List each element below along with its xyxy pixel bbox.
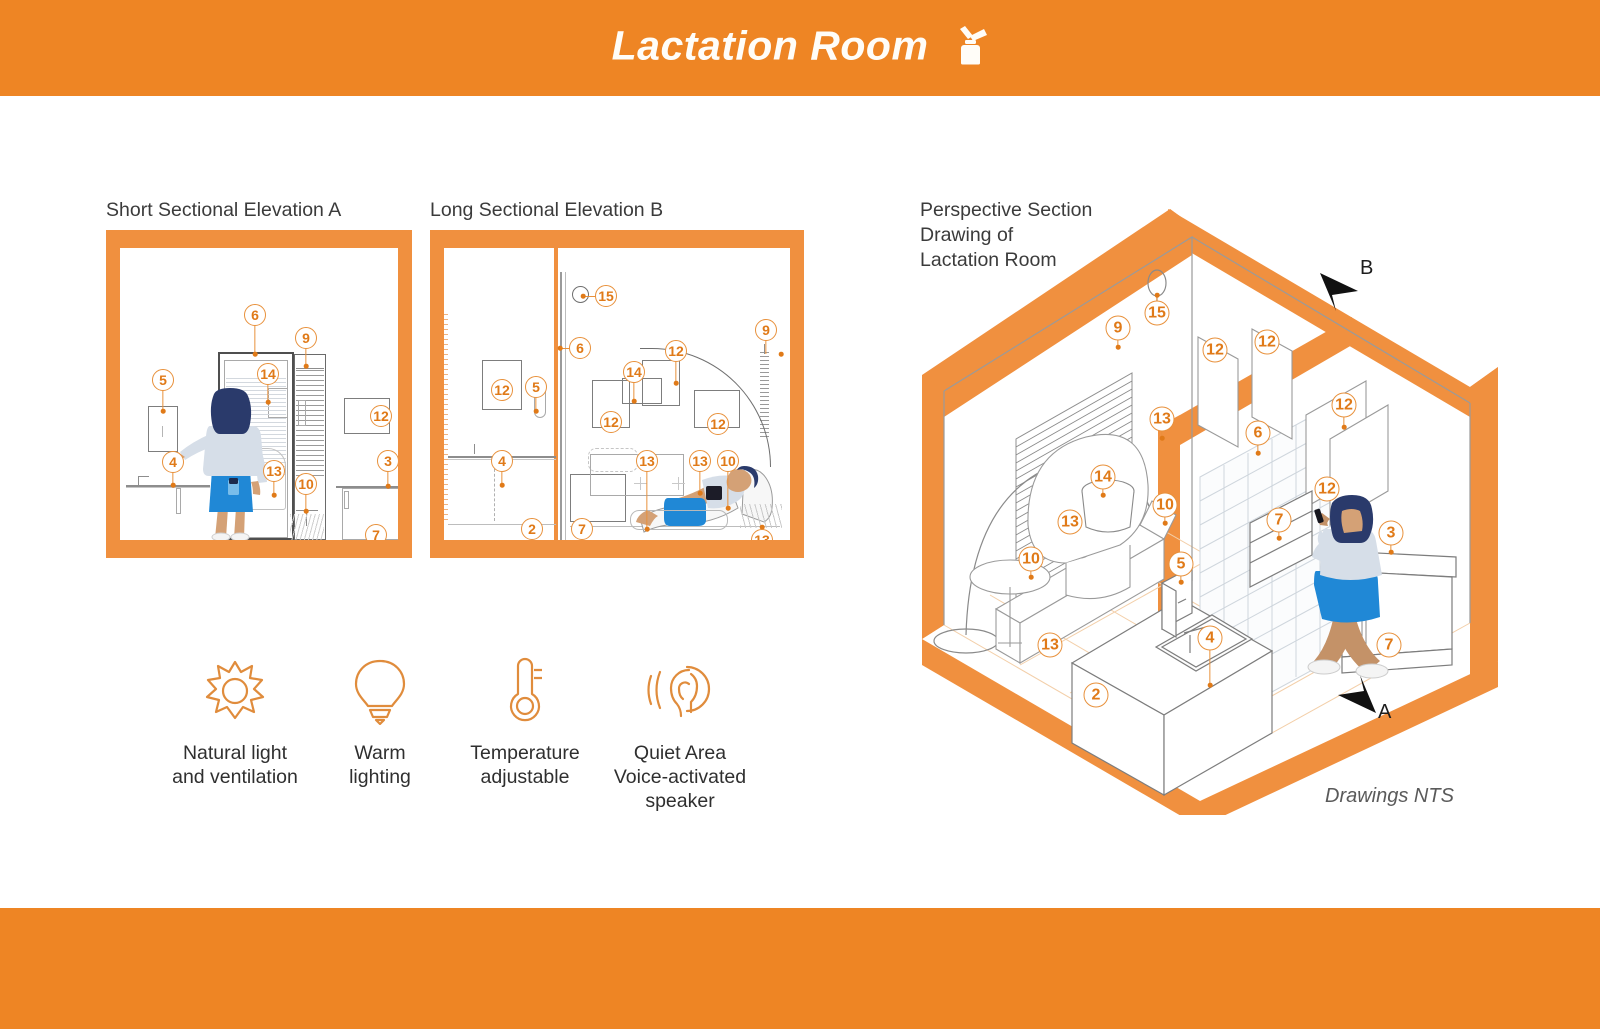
callout-bubble-12[interactable]: 12 [665, 340, 687, 362]
elevation-b-panel: 15691251412121241313102713 [430, 230, 804, 558]
elevation-a-cab-handle [344, 491, 349, 509]
callout-bubble-12[interactable]: 12 [1332, 393, 1357, 418]
callout-dot [726, 506, 731, 511]
callout-bubble-12[interactable]: 12 [370, 405, 392, 427]
thermometer-icon [500, 655, 550, 727]
callout-bubble-7[interactable]: 7 [365, 524, 387, 540]
callout-bubble-9[interactable]: 9 [295, 327, 317, 349]
feature-natural-light: Natural light and ventilation [160, 655, 310, 813]
callout-bubble-12[interactable]: 12 [1315, 477, 1340, 502]
callout-dot [558, 346, 563, 351]
callout-dot [272, 493, 277, 498]
callout-bubble-14[interactable]: 14 [257, 363, 279, 385]
callout-dot [253, 352, 258, 357]
callout-dot [1277, 536, 1282, 541]
elevation-b-partition-line-a [560, 272, 562, 540]
callout-bubble-13[interactable]: 13 [689, 450, 711, 472]
callout-dot [304, 364, 309, 369]
callout-bubble-2[interactable]: 2 [521, 518, 543, 540]
elevation-b-sofa-cushion [588, 448, 638, 472]
callout-dot [1160, 436, 1165, 441]
elevation-b-partition-line-b [565, 272, 566, 540]
callout-bubble-10[interactable]: 10 [1019, 547, 1044, 572]
section-mark-b: B [1360, 257, 1373, 280]
callout-dot [171, 483, 176, 488]
lightbulb-icon [351, 655, 409, 727]
elevation-a-shelf-detail [298, 400, 306, 426]
callout-bubble-12[interactable]: 12 [1255, 330, 1280, 355]
elevation-a-dispenser-slot [162, 426, 163, 437]
callout-bubble-6[interactable]: 6 [1246, 421, 1271, 446]
callout-dot [645, 527, 650, 532]
nursing-bottle-icon [954, 25, 988, 72]
callout-bubble-2[interactable]: 2 [1084, 683, 1109, 708]
elevation-a-panel: 69514124133107 [106, 230, 412, 558]
callout-dot [581, 294, 586, 299]
callout-bubble-14[interactable]: 14 [1091, 465, 1116, 490]
callout-dot [632, 399, 637, 404]
callout-dot [1389, 550, 1394, 555]
elevation-b-canvas: 15691251412121241313102713 [444, 248, 790, 540]
elevation-b-tap [474, 444, 475, 454]
callout-bubble-5[interactable]: 5 [1169, 552, 1194, 577]
feature-label: Temperature adjustable [470, 741, 579, 789]
feature-temperature: Temperature adjustable [450, 655, 600, 813]
perspective-drawing: B A 159131212121261413101057371342 [900, 195, 1520, 815]
elevation-a-title: Short Sectional Elevation A [106, 198, 341, 223]
callout-bubble-4[interactable]: 4 [491, 450, 513, 472]
section-mark-a: A [1378, 701, 1391, 724]
feature-label: Warm lighting [349, 741, 411, 789]
callout-dot [1155, 293, 1160, 298]
callout-bubble-7[interactable]: 7 [1377, 633, 1402, 658]
callout-bubble-10[interactable]: 10 [295, 473, 317, 495]
callout-bubble-9[interactable]: 9 [755, 319, 777, 341]
elevation-b-left-hatch [444, 314, 448, 524]
perspective-room-svg [900, 195, 1520, 815]
callout-bubble-3[interactable]: 3 [377, 450, 398, 472]
callout-dot [304, 509, 309, 514]
callout-bubble-7[interactable]: 7 [571, 518, 593, 540]
elevation-b-partition [554, 248, 558, 540]
callout-dot [1101, 493, 1106, 498]
callout-bubble-14[interactable]: 14 [623, 361, 645, 383]
callout-dot [266, 400, 271, 405]
callout-bubble-13[interactable]: 13 [263, 460, 285, 482]
callout-bubble-12[interactable]: 12 [1203, 338, 1228, 363]
page-title: Lactation Room [612, 25, 989, 72]
elevation-a-canvas: 69514124133107 [120, 248, 398, 540]
header-bar: Lactation Room [0, 0, 1600, 96]
callout-bubble-12[interactable]: 12 [600, 411, 622, 433]
callout-bubble-15[interactable]: 15 [595, 285, 617, 307]
features-row: Natural light and ventilation Warm light… [160, 655, 760, 813]
callout-bubble-3[interactable]: 3 [1379, 521, 1404, 546]
drawings-nts-note: Drawings NTS [1325, 785, 1454, 808]
callout-bubble-12[interactable]: 12 [491, 379, 513, 401]
callout-dot [1342, 425, 1347, 430]
callout-bubble-10[interactable]: 10 [717, 450, 739, 472]
callout-bubble-5[interactable]: 5 [152, 369, 174, 391]
callout-bubble-13[interactable]: 13 [1038, 633, 1063, 658]
feature-label: Quiet Area Voice-activated speaker [614, 741, 746, 813]
callout-dot [1179, 580, 1184, 585]
callout-bubble-7[interactable]: 7 [1267, 508, 1292, 533]
elevation-a-shelf-top [296, 368, 324, 369]
callout-dot [1256, 451, 1261, 456]
footer-bar [0, 908, 1600, 1029]
callout-bubble-4[interactable]: 4 [1198, 626, 1223, 651]
page-title-text: Lactation Room [612, 22, 929, 68]
callout-dot [779, 352, 784, 357]
callout-bubble-6[interactable]: 6 [569, 337, 591, 359]
callout-bubble-13[interactable]: 13 [636, 450, 658, 472]
callout-bubble-13[interactable]: 13 [1058, 510, 1083, 535]
callout-bubble-4[interactable]: 4 [162, 451, 184, 473]
callout-bubble-15[interactable]: 15 [1145, 301, 1170, 326]
callout-bubble-12[interactable]: 12 [707, 413, 729, 435]
callout-dot [1208, 683, 1213, 688]
elevation-b-privacy-curve [640, 348, 771, 467]
elevation-a-stand-legs [290, 514, 324, 540]
sun-icon [203, 655, 267, 727]
callout-bubble-9[interactable]: 9 [1106, 316, 1131, 341]
callout-dot [386, 484, 391, 489]
callout-bubble-10[interactable]: 10 [1153, 493, 1178, 518]
feature-label: Natural light and ventilation [172, 741, 298, 789]
callout-dot [161, 409, 166, 414]
callout-dot [534, 409, 539, 414]
callout-dot [1163, 521, 1168, 526]
feature-warm-lighting: Warm lighting [310, 655, 450, 813]
feature-quiet-area: Quiet Area Voice-activated speaker [600, 655, 760, 813]
callout-bubble-5[interactable]: 5 [525, 376, 547, 398]
elevation-a-faucet-arm [138, 476, 149, 477]
callout-dot [674, 381, 679, 386]
callout-dot [1029, 575, 1034, 580]
callout-dot [1116, 345, 1121, 350]
callout-dot [698, 491, 703, 496]
ear-sound-icon [645, 655, 715, 727]
callout-bubble-6[interactable]: 6 [244, 304, 266, 326]
callout-dot [500, 483, 505, 488]
elevation-a-faucet [138, 476, 139, 485]
callout-bubble-13[interactable]: 13 [1150, 407, 1175, 432]
elevation-b-title: Long Sectional Elevation B [430, 198, 663, 223]
